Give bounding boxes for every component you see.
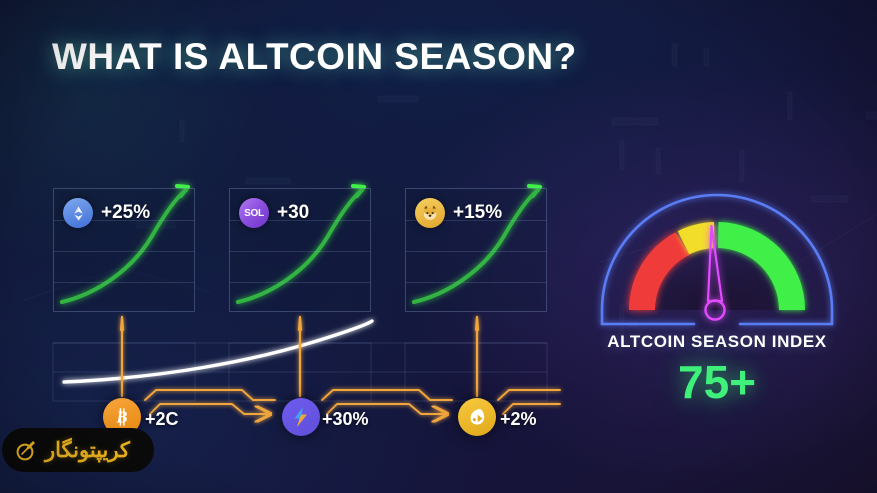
lightning-glyph — [289, 405, 313, 429]
coin-change-lightning: +30% — [322, 409, 369, 430]
gridline — [54, 282, 194, 283]
solana-icon: SOL — [239, 198, 269, 228]
bitcoin-glyph: B — [111, 406, 133, 428]
coin-pen-icon — [14, 438, 38, 462]
coin-change-bitcoin: +2C — [145, 409, 179, 430]
gauge-caption: ALTCOIN SEASON INDEX — [592, 332, 842, 352]
watermark-logo: کریپتونگار — [2, 428, 154, 472]
shiba-icon — [415, 198, 445, 228]
coin-change-dogecoin: +2% — [500, 409, 537, 430]
svg-text:B: B — [115, 408, 127, 427]
card-badge: +25% — [63, 198, 150, 228]
lightning-icon[interactable] — [282, 398, 320, 436]
dogecoin-icon[interactable] — [458, 398, 496, 436]
altcoin-season-gauge[interactable] — [592, 186, 842, 336]
watermark-text: کریپتونگار — [45, 438, 130, 463]
card-badge: SOL +30 — [239, 198, 309, 228]
slide-canvas: WHAT IS ALTCOIN SEASON? — [0, 0, 877, 493]
gauge-svg — [592, 186, 842, 336]
coin-pen-glyph — [14, 438, 38, 462]
gridline — [230, 251, 370, 252]
shiba-glyph — [419, 202, 441, 224]
gauge-value: 75+ — [592, 355, 842, 409]
solana-symbol: SOL — [244, 208, 264, 219]
card-change-value: +30 — [277, 202, 309, 224]
gridline — [230, 282, 370, 283]
gridline — [406, 282, 546, 283]
flow-arrows-up — [121, 317, 478, 396]
card-badge: +15% — [415, 198, 502, 228]
card-change-value: +15% — [453, 202, 502, 224]
chart-card-shiba[interactable]: +15% — [405, 188, 547, 312]
gridline — [406, 251, 546, 252]
dogecoin-glyph — [465, 405, 489, 429]
ethereum-icon — [63, 198, 93, 228]
gridline — [54, 251, 194, 252]
ethereum-glyph — [70, 205, 87, 222]
chart-card-solana[interactable]: SOL +30 — [229, 188, 371, 312]
card-change-value: +25% — [101, 202, 150, 224]
chart-card-ethereum[interactable]: +25% — [53, 188, 195, 312]
baseline-curve — [64, 321, 372, 382]
